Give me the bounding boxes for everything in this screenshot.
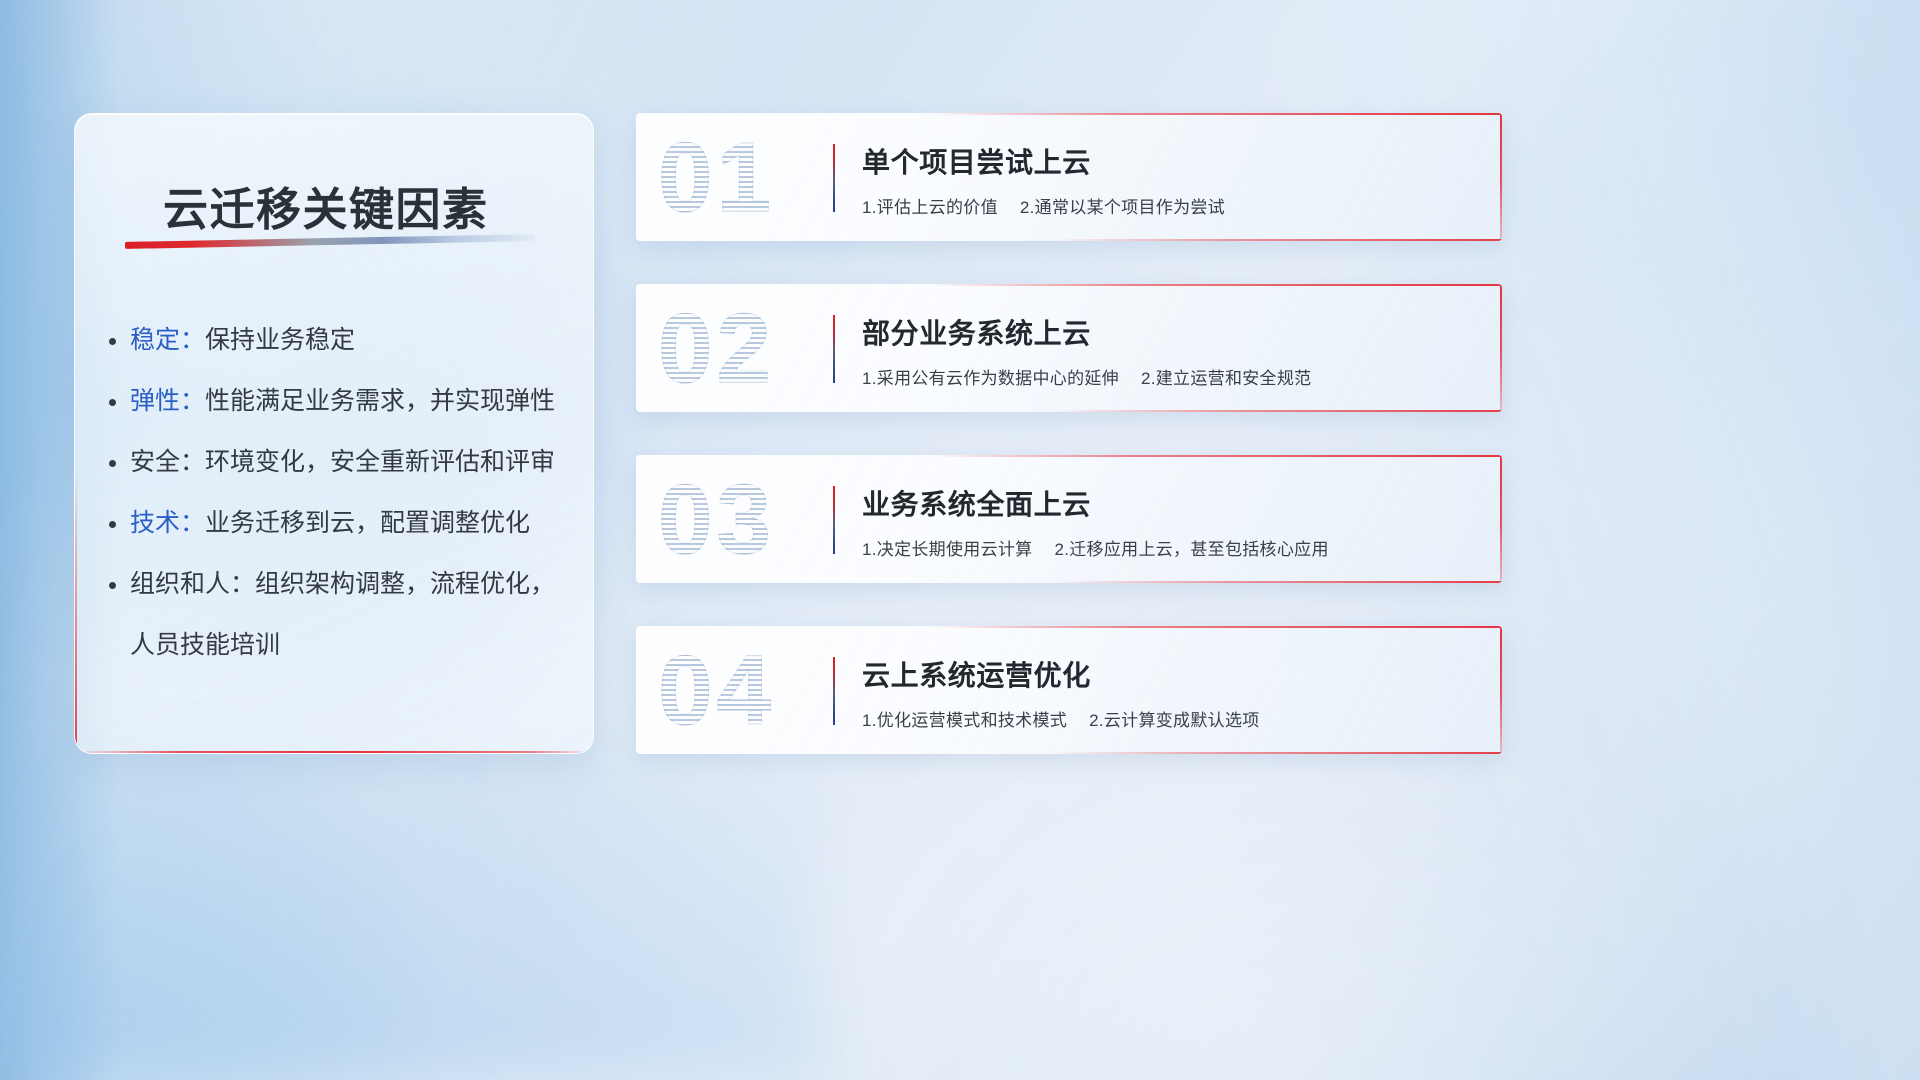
list-item: 组织和人：组织架构调整，流程优化，人员技能培训 <box>130 554 571 676</box>
stage-card[interactable]: 01 单个项目尝试上云 1.评估上云的价值2.通常以某个项目作为尝试 <box>636 113 1502 241</box>
card-accent-top <box>930 284 1502 286</box>
list-item-label: 稳定： <box>130 326 205 354</box>
key-factors-panel: 云迁移关键因素 稳定：保持业务稳定 弹性：性能满足业务需求，并实现弹性 安全：环… <box>74 113 594 754</box>
list-item-text: 业务迁移到云，配置调整优化 <box>205 509 530 537</box>
stage-number-watermark: 01 <box>658 121 775 234</box>
list-item-label: 组织和人： <box>130 570 255 598</box>
list-item-label: 技术： <box>130 509 205 537</box>
card-accent-bottom <box>1052 581 1502 583</box>
stage-number-watermark: 02 <box>658 292 775 405</box>
stage-number-watermark: 03 <box>658 463 775 576</box>
card-accent-bottom <box>1052 410 1502 412</box>
background-shade-bottom <box>0 750 820 1080</box>
card-divider-bar <box>833 657 835 725</box>
stage-number-watermark: 04 <box>658 634 775 747</box>
page-title: 云迁移关键因素 <box>163 173 489 238</box>
card-accent-top <box>930 455 1502 457</box>
stage-card[interactable]: 04 云上系统运营优化 1.优化运营模式和技术模式2.云计算变成默认选项 <box>636 626 1502 754</box>
card-description: 1.采用公有云作为数据中心的延伸2.建立运营和安全规范 <box>862 364 1311 389</box>
card-point: 2.云计算变成默认选项 <box>1089 711 1259 730</box>
card-accent-right <box>1500 626 1502 754</box>
card-accent-bottom <box>1052 752 1502 754</box>
key-factors-list: 稳定：保持业务稳定 弹性：性能满足业务需求，并实现弹性 安全：环境变化，安全重新… <box>130 310 571 676</box>
card-point: 1.采用公有云作为数据中心的延伸 <box>862 369 1119 388</box>
list-item-label: 安全： <box>130 448 205 476</box>
stage-card[interactable]: 02 部分业务系统上云 1.采用公有云作为数据中心的延伸2.建立运营和安全规范 <box>636 284 1502 412</box>
card-heading: 单个项目尝试上云 <box>862 141 1091 181</box>
card-point: 1.决定长期使用云计算 <box>862 540 1032 559</box>
list-item-text: 保持业务稳定 <box>205 326 355 354</box>
card-heading: 业务系统全面上云 <box>862 483 1091 523</box>
list-item: 稳定：保持业务稳定 <box>130 310 571 371</box>
card-point: 2.迁移应用上云，甚至包括核心应用 <box>1054 540 1328 559</box>
card-accent-right <box>1500 284 1502 412</box>
stage-card[interactable]: 03 业务系统全面上云 1.决定长期使用云计算2.迁移应用上云，甚至包括核心应用 <box>636 455 1502 583</box>
list-item: 安全：环境变化，安全重新评估和评审 <box>130 432 571 493</box>
card-accent-top <box>930 626 1502 628</box>
card-description: 1.评估上云的价值2.通常以某个项目作为尝试 <box>862 193 1225 218</box>
card-accent-bottom <box>1052 239 1502 241</box>
card-description: 1.优化运营模式和技术模式2.云计算变成默认选项 <box>862 706 1260 731</box>
card-point: 1.优化运营模式和技术模式 <box>862 711 1067 730</box>
card-point: 2.通常以某个项目作为尝试 <box>1020 198 1225 217</box>
card-accent-right <box>1500 113 1502 241</box>
card-divider-bar <box>833 144 835 212</box>
list-item-label: 弹性： <box>130 387 205 415</box>
card-heading: 云上系统运营优化 <box>862 654 1091 694</box>
card-point: 2.建立运营和安全规范 <box>1141 369 1311 388</box>
card-heading: 部分业务系统上云 <box>862 312 1091 352</box>
list-item: 弹性：性能满足业务需求，并实现弹性 <box>130 371 571 432</box>
card-divider-bar <box>833 315 835 383</box>
migration-stage-cards: 01 单个项目尝试上云 1.评估上云的价值2.通常以某个项目作为尝试 02 部分… <box>636 113 1502 797</box>
card-divider-bar <box>833 486 835 554</box>
card-accent-top <box>930 113 1502 115</box>
list-item-text: 性能满足业务需求，并实现弹性 <box>205 387 555 415</box>
card-point: 1.评估上云的价值 <box>862 198 998 217</box>
card-accent-right <box>1500 455 1502 583</box>
list-item-text: 环境变化，安全重新评估和评审 <box>205 448 555 476</box>
card-description: 1.决定长期使用云计算2.迁移应用上云，甚至包括核心应用 <box>862 535 1329 560</box>
list-item: 技术：业务迁移到云，配置调整优化 <box>130 493 571 554</box>
